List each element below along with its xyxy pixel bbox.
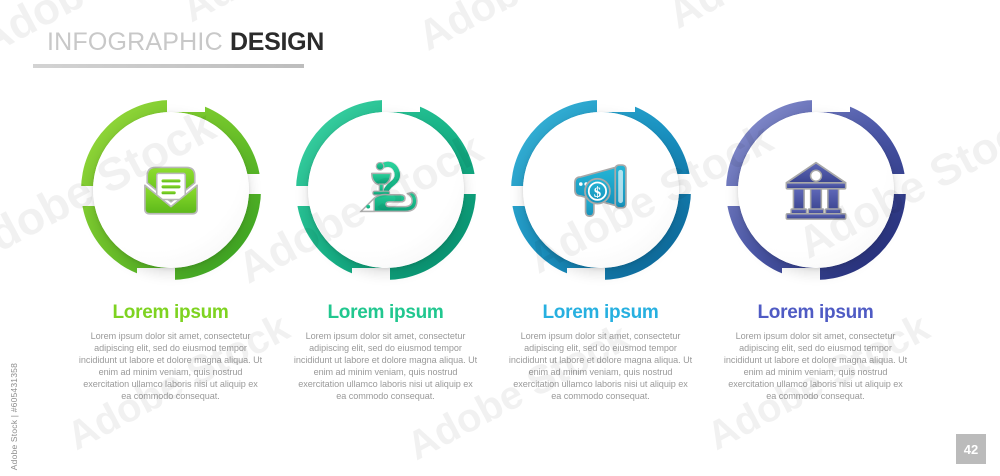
step-1-title: Lorem ipsum: [113, 302, 229, 324]
stock-attribution-text: Adobe Stock | #605431358: [9, 363, 19, 470]
watermark-tile: Adobe Stock: [175, 0, 412, 32]
page-title-bold: DESIGN: [230, 28, 324, 56]
step-4-title: Lorem ipsum: [758, 302, 874, 324]
infographic-columns: Lorem ipsum Lorem ipsum dolor sit amet, …: [0, 90, 1000, 402]
infographic-step-2[interactable]: Lorem ipsum Lorem ipsum dolor sit amet, …: [278, 90, 493, 402]
step-4-circle-badge[interactable]: [716, 90, 916, 290]
svg-text:$: $: [593, 185, 600, 201]
step-1-body: Lorem ipsum dolor sit amet, consectetur …: [78, 331, 264, 402]
step-2-body: Lorem ipsum dolor sit amet, consectetur …: [293, 331, 479, 402]
step-1-circle-badge[interactable]: [71, 90, 271, 290]
header-divider: [33, 64, 304, 68]
step-3-circle-badge[interactable]: $: [501, 90, 701, 290]
open-envelope-with-letter-icon: [93, 112, 249, 268]
infographic-step-1[interactable]: Lorem ipsum Lorem ipsum dolor sit amet, …: [63, 90, 278, 402]
infographic-step-3[interactable]: $ Lorem ipsum Lorem ipsum dolor sit amet…: [493, 90, 708, 402]
step-2-circle-badge[interactable]: [286, 90, 486, 290]
step-3-title: Lorem ipsum: [543, 302, 659, 324]
image-number-badge: 42: [956, 434, 986, 464]
step-2-title: Lorem ipsum: [328, 302, 444, 324]
page-title: INFOGRAPHIC DESIGN: [47, 28, 324, 56]
infographic-step-4[interactable]: Lorem ipsum Lorem ipsum dolor sit amet, …: [708, 90, 923, 402]
page-header: INFOGRAPHIC DESIGN: [47, 28, 324, 56]
watermark-tile: Adobe Stock: [660, 0, 909, 38]
bank-courthouse-building-icon: [738, 112, 894, 268]
page-title-light: INFOGRAPHIC: [47, 28, 223, 56]
step-3-body: Lorem ipsum dolor sit amet, consectetur …: [508, 331, 694, 402]
step-4-body: Lorem ipsum dolor sit amet, consectetur …: [723, 331, 909, 402]
hand-holding-pharmacy-bowl-of-hygieia-icon: [308, 112, 464, 268]
watermark-tile: Adobe Stock: [410, 0, 659, 60]
megaphone-with-dollar-coin-icon: $: [523, 112, 679, 268]
